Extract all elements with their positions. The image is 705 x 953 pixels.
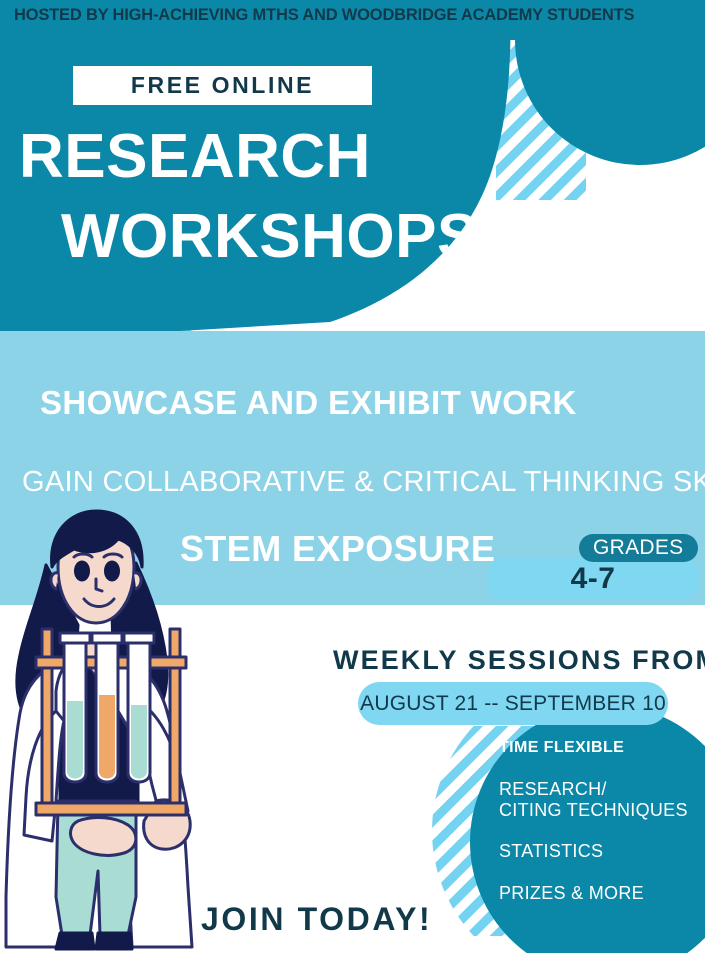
shoe-left <box>56 933 94 949</box>
list-item: STATISTICS <box>499 841 699 862</box>
benefit-gain-skills: GAIN COLLABORATIVE & CRITICAL THINKING S… <box>22 466 705 499</box>
free-online-label: FREE ONLINE <box>131 72 314 99</box>
session-dates-label: AUGUST 21 -- SEPTEMBER 10 <box>360 692 666 716</box>
scientist-illustration <box>0 505 236 953</box>
eye-left <box>76 562 89 580</box>
test-tube-3 <box>124 633 154 782</box>
test-tube-1 <box>60 633 90 782</box>
list-item: RESEARCH/ CITING TECHNIQUES <box>499 779 699 820</box>
hosted-by-text: HOSTED BY HIGH-ACHIEVING MTHS AND WOODBR… <box>14 6 705 25</box>
grades-value-label: 4-7 <box>571 562 616 596</box>
free-online-badge: FREE ONLINE <box>73 66 372 105</box>
grades-badge-label: GRADES <box>593 536 684 560</box>
rack-base <box>36 803 186 815</box>
eye-right <box>106 562 119 580</box>
page-title-line-1: RESEARCH <box>19 126 371 188</box>
weekly-sessions-heading: WEEKLY SESSIONS FROM <box>333 645 705 676</box>
test-tube-2 <box>92 633 122 782</box>
shoe-right <box>96 933 132 949</box>
hand-left <box>71 818 136 856</box>
topics-heading: TIME FLEXIBLE <box>499 739 699 757</box>
session-dates-pill: AUGUST 21 -- SEPTEMBER 10 <box>358 682 668 725</box>
page-title-line-2: WORKSHOPS <box>61 206 479 268</box>
grades-value-pill: 4-7 <box>487 558 699 600</box>
grades-badge: GRADES <box>579 534 698 562</box>
poster-root: HOSTED BY HIGH-ACHIEVING MTHS AND WOODBR… <box>0 0 705 953</box>
topics-list: TIME FLEXIBLE RESEARCH/ CITING TECHNIQUE… <box>499 739 699 925</box>
benefit-showcase: SHOWCASE AND EXHIBIT WORK <box>40 384 577 422</box>
list-item: PRIZES & MORE <box>499 883 699 904</box>
